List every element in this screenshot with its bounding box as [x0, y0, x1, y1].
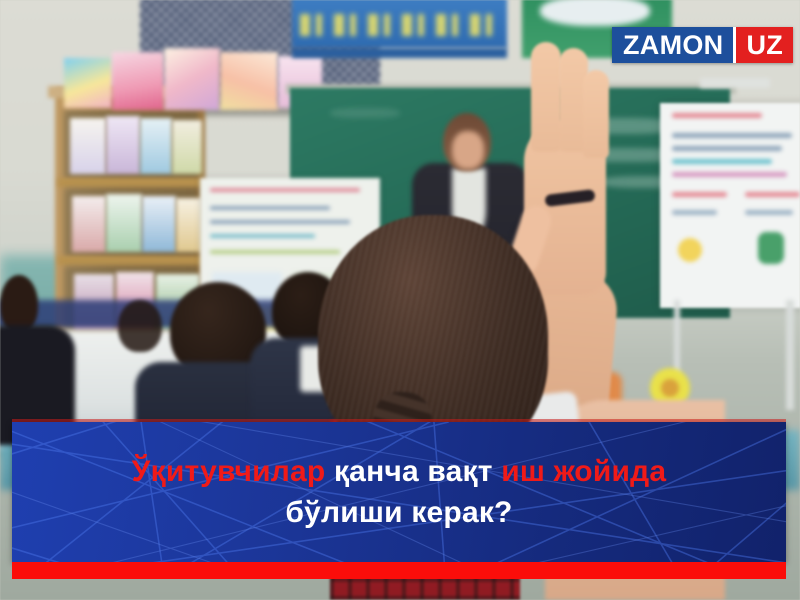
chart-text-line [672, 146, 782, 151]
pupil-head [118, 300, 162, 352]
logo-uz-text: UZ [733, 27, 793, 63]
finger [531, 42, 561, 152]
headline-line-1: Ўқитувчилар қанча вақт иш жойида [132, 451, 667, 492]
book [176, 198, 202, 252]
book [72, 196, 106, 252]
teacher-face [452, 131, 484, 169]
finger [583, 70, 609, 158]
headline-text-block: Ўқитувчилар қанча вақт иш жойида бўлиши … [12, 422, 786, 562]
poster-text-line [210, 234, 315, 238]
headline-part-3: иш жойида [501, 455, 666, 488]
wall-poster-blue-text [300, 14, 500, 36]
flower-center [661, 379, 679, 397]
banner-red-stripe [12, 562, 786, 579]
headline-part-1: Ўқитувчилар [132, 455, 334, 488]
poster-text-line [210, 206, 330, 210]
book [70, 118, 106, 174]
zamon-uz-logo[interactable]: ZAMON UZ [612, 27, 793, 63]
wall-poster-green-inset [540, 0, 650, 26]
headline-line-2: бўлиши керак? [285, 492, 512, 533]
chalk-writing [330, 108, 400, 118]
chart-text-line [672, 210, 717, 215]
chart-stand-top [700, 78, 770, 88]
book [142, 196, 176, 252]
chart-sun-icon [678, 238, 702, 262]
chart-text-line [745, 192, 800, 197]
poster-text-line [210, 250, 340, 254]
book [106, 116, 140, 174]
chart-text-line [672, 113, 762, 118]
book [164, 48, 220, 110]
chart-figure-icon [758, 232, 784, 264]
news-card: ZAMON UZ [0, 0, 800, 600]
book [64, 58, 112, 108]
book [220, 52, 278, 110]
book [140, 118, 172, 174]
bookshelf-plank [58, 256, 204, 265]
chart-text-line [672, 159, 772, 164]
chart-text-line [672, 192, 727, 197]
logo-zamon-text: ZAMON [612, 27, 733, 63]
chart-text-line [672, 172, 787, 177]
book [172, 120, 202, 174]
chart-text-line [745, 210, 793, 215]
headline-part-2: қанча вақт [334, 455, 501, 488]
chart-text-line [672, 133, 792, 138]
book [112, 52, 164, 110]
headline-banner: Ўқитувчилар қанча вақт иш жойида бўлиши … [12, 422, 786, 562]
bookshelf-plank [58, 178, 204, 187]
wall-poster-blue-band [292, 48, 507, 58]
book [106, 194, 142, 252]
poster-text-line [210, 220, 350, 224]
poster-text-line [210, 188, 360, 192]
